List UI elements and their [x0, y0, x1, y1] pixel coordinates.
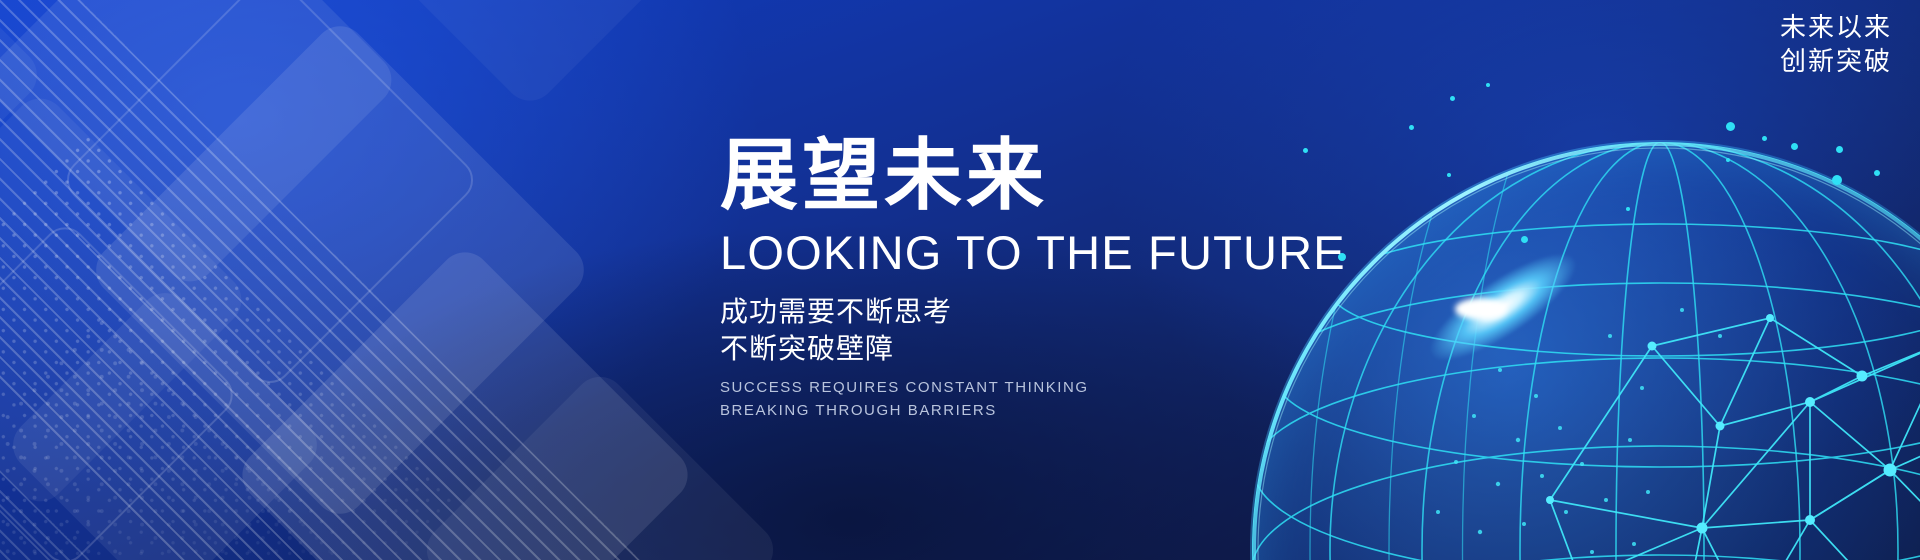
particle-dot	[1409, 125, 1414, 130]
subtitle-chinese-line-2: 不断突破壁障	[720, 330, 1420, 367]
globe-light-flare-core	[1455, 298, 1507, 320]
diagonal-geometric-pattern	[0, 0, 780, 560]
corner-slogan-line-1: 未来以来	[1780, 10, 1892, 44]
particle-dot	[1762, 136, 1767, 141]
subtitle-chinese-line-1: 成功需要不断思考	[720, 293, 1420, 330]
particle-dot	[1450, 96, 1455, 101]
corner-slogan-line-2: 创新突破	[1780, 44, 1892, 78]
page-title-chinese: 展望未来	[720, 136, 1420, 214]
particle-dot	[1626, 207, 1630, 211]
promotional-banner: 展望未来 LOOKING TO THE FUTURE 成功需要不断思考 不断突破…	[0, 0, 1920, 560]
particle-dot	[1447, 173, 1451, 177]
particle-dot	[1832, 175, 1842, 185]
subtitle-english-line-1: SUCCESS REQUIRES CONSTANT THINKING	[720, 376, 1420, 399]
particle-dot	[1874, 170, 1880, 176]
particle-dot	[1726, 158, 1730, 162]
particle-dot	[1726, 122, 1735, 131]
subtitle-english-line-2: BREAKING THROUGH BARRIERS	[720, 399, 1420, 422]
particle-dot	[1521, 236, 1528, 243]
headline-copy-block: 展望未来 LOOKING TO THE FUTURE 成功需要不断思考 不断突破…	[720, 136, 1420, 423]
page-title-english: LOOKING TO THE FUTURE	[720, 227, 1420, 280]
particle-dot	[1791, 143, 1798, 150]
particle-dot	[1486, 83, 1490, 87]
rotated-square-plate	[389, 0, 672, 111]
particle-dot	[1836, 146, 1843, 153]
corner-slogan: 未来以来 创新突破	[1780, 10, 1892, 79]
